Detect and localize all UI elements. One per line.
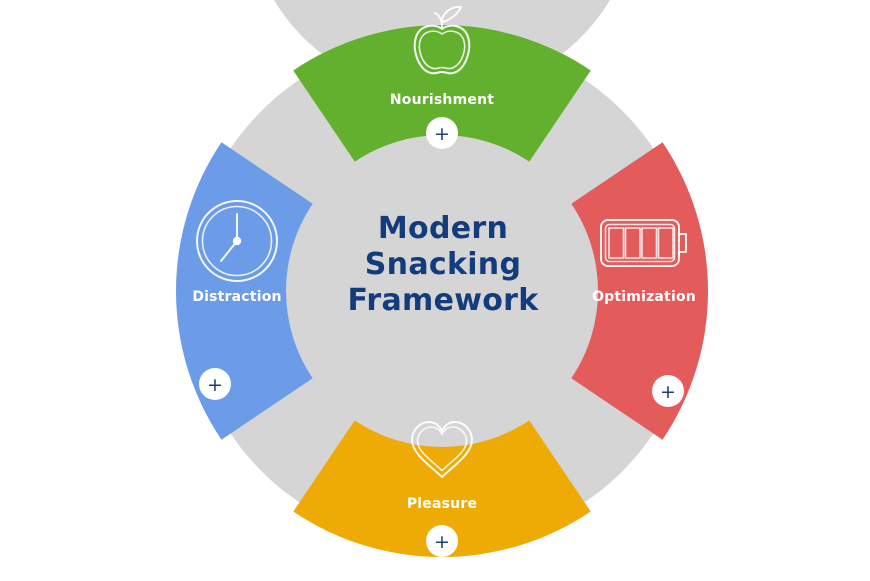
- expand-button-optimization[interactable]: +: [652, 375, 684, 407]
- center-title-line-3: Framework: [348, 283, 540, 318]
- segment-nourishment-label: Nourishment: [390, 92, 494, 108]
- expand-button-distraction-label: +: [207, 374, 223, 396]
- wheel-svg: Nourishment Optimization Pleasure: [0, 0, 870, 581]
- expand-button-nourishment-label: +: [434, 123, 450, 145]
- expand-button-pleasure-label: +: [434, 531, 450, 553]
- expand-button-optimization-label: +: [660, 381, 676, 403]
- segment-distraction-label: Distraction: [192, 289, 281, 305]
- center-title-line-2: Snacking: [365, 247, 521, 282]
- segment-pleasure-label: Pleasure: [407, 496, 477, 512]
- expand-button-pleasure[interactable]: +: [426, 525, 458, 557]
- expand-button-nourishment[interactable]: +: [426, 117, 458, 149]
- segment-optimization-label: Optimization: [592, 289, 696, 305]
- center-title-line-1: Modern: [378, 211, 508, 246]
- snacking-framework-diagram: Nourishment Optimization Pleasure: [0, 0, 870, 581]
- expand-button-distraction[interactable]: +: [199, 368, 231, 400]
